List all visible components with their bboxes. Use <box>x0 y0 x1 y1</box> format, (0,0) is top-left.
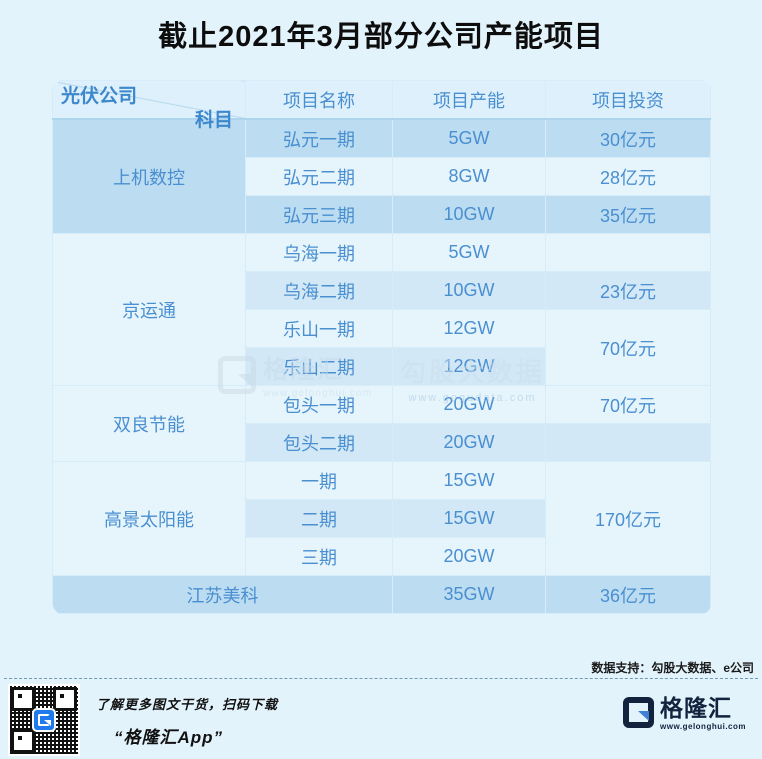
project-capacity-cell: 10GW <box>393 272 546 310</box>
table-body: 上机数控 弘元一期 5GW 30亿元 弘元二期 8GW 28亿元 弘元三期 10… <box>53 119 711 614</box>
qr-finder-bottom-left-icon <box>11 729 35 753</box>
company-cell: 高景太阳能 <box>53 462 246 576</box>
brand-url: www.gelonghui.com <box>660 722 746 731</box>
footer-divider <box>4 678 758 679</box>
project-capacity-cell: 12GW <box>393 348 546 386</box>
brand-name: 格隆汇 <box>660 696 746 720</box>
project-investment-cell: 70亿元 <box>546 386 711 424</box>
company-cell: 双良节能 <box>53 386 246 462</box>
qr-code[interactable] <box>8 684 80 756</box>
table-row: 高景太阳能 一期 15GW 170亿元 <box>53 462 711 500</box>
cta-line-1: 了解更多图文干货，扫码下载 <box>96 694 278 713</box>
table-header: 科目 光伏公司 项目名称 项目产能 项目投资 <box>53 81 711 120</box>
project-capacity-cell: 20GW <box>393 424 546 462</box>
cta-line-2: “格隆汇App” <box>96 723 278 748</box>
project-name-cell: 二期 <box>246 500 393 538</box>
project-capacity-cell: 20GW <box>393 386 546 424</box>
table-row: 双良节能 包头一期 20GW 70亿元 <box>53 386 711 424</box>
project-capacity-cell: 20GW <box>393 538 546 576</box>
qr-finder-top-left-icon <box>11 687 35 711</box>
gelonghui-logo-icon <box>32 708 56 732</box>
gelonghui-logo-icon <box>623 697 654 728</box>
data-source-note: 数据支持：勾股大数据、e公司 <box>591 659 754 676</box>
page-title: 截止2021年3月部分公司产能项目 <box>0 0 762 54</box>
project-name-cell: 乐山一期 <box>246 310 393 348</box>
qr-finder-top-right-icon <box>53 687 77 711</box>
project-capacity-cell: 12GW <box>393 310 546 348</box>
project-name-cell: 乐山二期 <box>246 348 393 386</box>
project-name-cell: 包头二期 <box>246 424 393 462</box>
project-investment-cell: 36亿元 <box>546 576 711 614</box>
table-row: 上机数控 弘元一期 5GW 30亿元 <box>53 119 711 158</box>
project-investment-cell: 70亿元 <box>546 310 711 386</box>
header-row: 科目 光伏公司 项目名称 项目产能 项目投资 <box>53 81 711 120</box>
company-cell: 江苏美科 <box>53 576 393 614</box>
company-cell: 上机数控 <box>53 119 246 234</box>
download-cta: 了解更多图文干货，扫码下载 “格隆汇App” <box>96 694 278 748</box>
corner-header-subject: 科目 <box>195 105 233 132</box>
project-investment-cell: 28亿元 <box>546 158 711 196</box>
project-capacity-cell: 15GW <box>393 500 546 538</box>
project-capacity-cell: 15GW <box>393 462 546 500</box>
project-capacity-cell: 8GW <box>393 158 546 196</box>
project-name-cell: 一期 <box>246 462 393 500</box>
table-row: 京运通 乌海一期 5GW <box>53 234 711 272</box>
project-capacity-cell: 35GW <box>393 576 546 614</box>
capacity-table: 科目 光伏公司 项目名称 项目产能 项目投资 上机数控 弘元一期 5GW 30亿… <box>52 80 711 614</box>
project-name-cell: 三期 <box>246 538 393 576</box>
project-name-cell: 弘元三期 <box>246 196 393 234</box>
brand-logo: 格隆汇 www.gelonghui.com <box>623 696 746 731</box>
qr-pattern <box>10 686 78 754</box>
project-investment-cell: 30亿元 <box>546 119 711 158</box>
project-name-cell: 乌海二期 <box>246 272 393 310</box>
project-investment-cell <box>546 234 711 272</box>
project-name-cell: 弘元一期 <box>246 119 393 158</box>
project-capacity-cell: 5GW <box>393 119 546 158</box>
corner-header-company: 光伏公司 <box>61 81 137 108</box>
project-investment-cell <box>546 424 711 462</box>
project-capacity-cell: 10GW <box>393 196 546 234</box>
footer: 了解更多图文干货，扫码下载 “格隆汇App” 格隆汇 www.gelonghui… <box>0 680 762 759</box>
column-header-project-name: 项目名称 <box>246 81 393 120</box>
project-name-cell: 乌海一期 <box>246 234 393 272</box>
column-header-project-capacity: 项目产能 <box>393 81 546 120</box>
corner-header-cell: 科目 光伏公司 <box>53 81 246 120</box>
table-row: 江苏美科 35GW 36亿元 <box>53 576 711 614</box>
column-header-project-investment: 项目投资 <box>546 81 711 120</box>
project-investment-cell: 23亿元 <box>546 272 711 310</box>
project-investment-cell: 170亿元 <box>546 462 711 576</box>
project-capacity-cell: 5GW <box>393 234 546 272</box>
project-name-cell: 弘元二期 <box>246 158 393 196</box>
capacity-table-container: 科目 光伏公司 项目名称 项目产能 项目投资 上机数控 弘元一期 5GW 30亿… <box>52 80 710 660</box>
project-name-cell: 包头一期 <box>246 386 393 424</box>
company-cell: 京运通 <box>53 234 246 386</box>
project-investment-cell: 35亿元 <box>546 196 711 234</box>
